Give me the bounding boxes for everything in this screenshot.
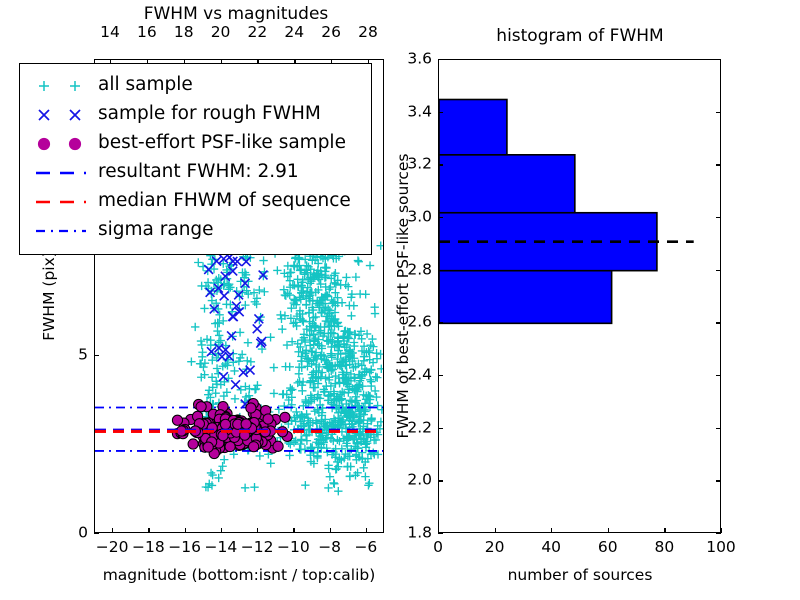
- histogram-x-tick: 100: [706, 540, 736, 556]
- legend-entry-label: resultant FWHM: 2.91: [98, 163, 299, 182]
- tick-mark: [608, 528, 609, 533]
- histogram-bar: [439, 100, 507, 155]
- plus-marker: [26, 73, 98, 99]
- histogram-bar: [439, 271, 612, 324]
- tick-mark: [438, 375, 443, 376]
- tick-mark: [438, 112, 443, 113]
- legend-entry: resultant FWHM: 2.91: [20, 158, 371, 187]
- tick-mark: [257, 528, 258, 533]
- tick-mark: [551, 528, 552, 533]
- scatter-x-tick: −12: [241, 540, 274, 556]
- tick-mark: [438, 270, 443, 271]
- matplotlib-figure: FWHM vs magnitudes −20−18−16−14−12−10−8−…: [0, 0, 800, 600]
- scatter-x-tick: −20: [96, 540, 129, 556]
- dashed-line: [26, 189, 98, 215]
- scatter-x-tick: −18: [132, 540, 165, 556]
- tick-mark: [438, 59, 443, 60]
- tick-mark: [716, 428, 721, 429]
- filled-circle-marker: [26, 131, 98, 157]
- tick-mark: [221, 528, 222, 533]
- histogram-ylabel: FWHM of best-effort PSF-like sources: [396, 153, 412, 438]
- histogram-xlabel: number of sources: [508, 568, 653, 584]
- histogram-x-tick: 0: [433, 540, 443, 556]
- legend-entry: sigma range: [20, 216, 371, 245]
- tick-mark: [438, 428, 443, 429]
- histogram-x-tick: 80: [655, 540, 675, 556]
- tick-mark: [438, 164, 443, 165]
- histogram-x-tick: 20: [485, 540, 505, 556]
- tick-mark: [185, 528, 186, 533]
- tick-mark: [438, 322, 443, 323]
- tick-mark: [721, 528, 722, 533]
- histogram-y-tick: 2.0: [388, 473, 432, 489]
- legend-entry: sample for rough FWHM: [20, 100, 371, 129]
- histogram-y-tick: 3.6: [388, 51, 432, 67]
- tick-mark: [148, 528, 149, 533]
- legend-entry: best-effort PSF-like sample: [20, 129, 371, 158]
- scatter-ylabel: FWHM (pix): [42, 251, 58, 341]
- scatter-x-tick: −14: [205, 540, 238, 556]
- scatter-top-x-tick: 26: [321, 25, 341, 41]
- tick-mark: [293, 528, 294, 533]
- scatter-xlabel: magnitude (bottom:isnt / top:calib): [103, 568, 376, 584]
- scatter-top-x-tick: 14: [100, 25, 120, 41]
- histogram-y-tick: 1.8: [388, 525, 432, 541]
- legend-entry: all sample: [20, 71, 371, 100]
- scatter-top-x-tick: 28: [358, 25, 378, 41]
- dashdot-line: [26, 218, 98, 244]
- histogram-y-tick: 3.4: [388, 104, 432, 120]
- legend-entry: median FHWM of sequence: [20, 187, 371, 216]
- tick-mark: [94, 355, 99, 356]
- scatter-top-x-tick: 24: [284, 25, 304, 41]
- tick-mark: [495, 528, 496, 533]
- tick-mark: [438, 480, 443, 481]
- tick-mark: [716, 322, 721, 323]
- histogram-bar: [439, 213, 657, 271]
- legend-entry-label: median FHWM of sequence: [98, 192, 351, 211]
- legend: all samplesample for rough FWHMbest-effo…: [19, 63, 372, 255]
- histogram-x-tick: 40: [541, 540, 561, 556]
- histogram-x-tick: 60: [598, 540, 618, 556]
- tick-mark: [366, 528, 367, 533]
- left-plot-title: FWHM vs magnitudes: [144, 6, 329, 23]
- scatter-top-x-tick: 16: [137, 25, 157, 41]
- histogram-axes: [438, 59, 721, 533]
- scatter-top-x-tick: 22: [248, 25, 268, 41]
- tick-mark: [330, 528, 331, 533]
- tick-mark: [716, 375, 721, 376]
- tick-mark: [716, 217, 721, 218]
- tick-mark: [716, 164, 721, 165]
- tick-mark: [716, 533, 721, 534]
- right-plot-title: histogram of FWHM: [496, 28, 663, 45]
- tick-mark: [716, 112, 721, 113]
- tick-mark: [716, 480, 721, 481]
- legend-entry-label: all sample: [98, 76, 193, 95]
- dashed-line: [26, 160, 98, 186]
- cross-marker: [26, 102, 98, 128]
- scatter-y-tick: 5: [48, 347, 88, 363]
- scatter-x-tick: −16: [168, 540, 201, 556]
- tick-mark: [716, 270, 721, 271]
- legend-entry-label: sample for rough FWHM: [98, 105, 321, 124]
- scatter-x-tick: −6: [354, 540, 377, 556]
- tick-mark: [438, 217, 443, 218]
- tick-mark: [716, 59, 721, 60]
- scatter-x-tick: −8: [318, 540, 341, 556]
- scatter-y-tick: 0: [48, 525, 88, 541]
- histogram-bars: [439, 100, 657, 324]
- tick-mark: [112, 528, 113, 533]
- legend-entry-label: sigma range: [98, 221, 214, 240]
- legend-entry-label: best-effort PSF-like sample: [98, 134, 346, 153]
- tick-mark: [438, 533, 443, 534]
- series-psf-sample: [172, 398, 292, 458]
- scatter-top-x-tick: 18: [174, 25, 194, 41]
- tick-mark: [664, 528, 665, 533]
- scatter-top-x-tick: 20: [211, 25, 231, 41]
- tick-mark: [94, 533, 99, 534]
- histogram-bar: [439, 155, 575, 213]
- scatter-x-tick: −10: [277, 540, 310, 556]
- histogram-plot-canvas: [439, 60, 721, 533]
